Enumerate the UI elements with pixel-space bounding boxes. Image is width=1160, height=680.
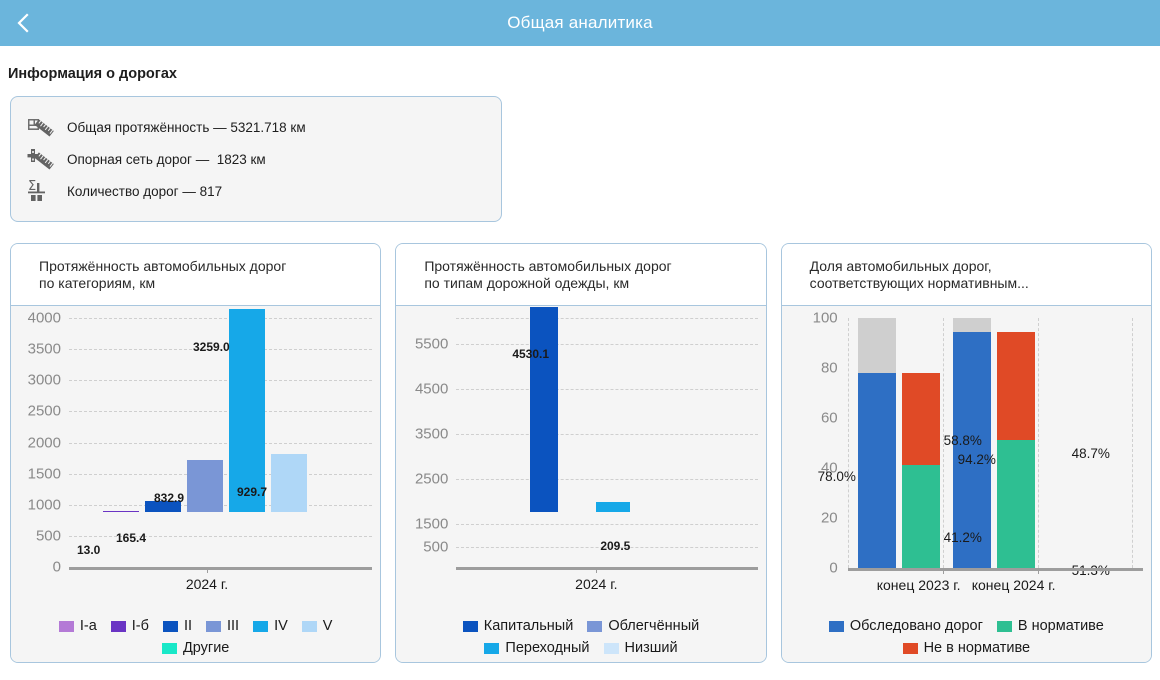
chart-card-road-length-by-pavement: Протяжённость автомобильных дорог по тип… xyxy=(395,243,766,663)
legend-item-kapitalnyy[interactable]: Капитальный xyxy=(463,618,574,634)
charts-row: Протяжённость автомобильных дорог по кат… xyxy=(10,243,1152,663)
legend-item-ii[interactable]: II xyxy=(163,618,192,634)
info-text-road-count: Количество дорог — 817 xyxy=(67,184,222,199)
bar-label-iv: 3259.0 xyxy=(193,340,230,354)
legend-swatch-kapitalnyy xyxy=(463,621,478,632)
chart3-legend: Обследовано дорог В нормативе Не в норма… xyxy=(782,618,1151,656)
bar-iv[interactable] xyxy=(229,309,265,512)
chart-card-normative-share: Доля автомобильных дорог, соответствующи… xyxy=(781,243,1152,663)
legend-item-v[interactable]: V xyxy=(302,618,333,634)
info-row-total-length: Общая протяжённость — 5321.718 км xyxy=(25,111,485,143)
chart3-plot: 100 80 60 40 20 0 xyxy=(782,306,1151,662)
chart1-plot: 4000 3500 3000 2500 2000 1500 1000 500 0 xyxy=(11,306,380,662)
chart-plot-area[interactable]: 5500 4500 3500 2500 1500 500 4530.1 209.… xyxy=(396,306,765,662)
legend-label-i-b: I-б xyxy=(132,618,149,634)
chevron-left-icon xyxy=(16,12,30,34)
legend-swatch-oblegchennyy xyxy=(587,621,602,632)
legend-swatch-i-a xyxy=(59,621,74,632)
y-tick: 4000 xyxy=(11,310,61,327)
legend-swatch-iv xyxy=(253,621,268,632)
x-tick-label-2024: 2024 г. xyxy=(546,576,646,592)
legend-row-2: Не в нормативе xyxy=(788,640,1145,656)
legend-label-ii: II xyxy=(184,618,192,634)
legend-label-iv: IV xyxy=(274,618,288,634)
bar-label-2023-not-normative: 58.8% xyxy=(944,433,982,448)
legend-row-2: Переходный Низший xyxy=(402,640,759,656)
y-tick: 5500 xyxy=(396,336,448,353)
y-tick: 2500 xyxy=(11,403,61,420)
y-tick: 1500 xyxy=(11,466,61,483)
legend-label-normative: В нормативе xyxy=(1018,618,1104,634)
bar-label-kapitalnyy: 4530.1 xyxy=(512,347,549,361)
legend-item-oblegchennyy[interactable]: Облегчённый xyxy=(587,618,699,634)
legend-item-normative[interactable]: В нормативе xyxy=(997,618,1104,634)
chart-title: Протяжённость автомобильных дорог по кат… xyxy=(39,258,366,292)
x-axis-line xyxy=(69,567,372,570)
y-tick: 1500 xyxy=(396,516,448,533)
bar-2023-surveyed[interactable] xyxy=(858,373,896,568)
info-row-road-count: Σ Количество дорог — 817 xyxy=(25,175,485,207)
chart2-legend: Капитальный Облегчённый Переходный xyxy=(396,618,765,656)
legend-label-oblegchennyy: Облегчённый xyxy=(608,618,699,634)
y-tick: 3000 xyxy=(11,372,61,389)
legend-label-v: V xyxy=(323,618,333,634)
sigma-roads-icon: Σ xyxy=(25,178,55,204)
bar-kapitalnyy[interactable] xyxy=(530,307,558,512)
page-title: Общая аналитика xyxy=(0,13,1160,33)
legend-label-drugie: Другие xyxy=(183,640,229,656)
chart-plot-area[interactable]: 100 80 60 40 20 0 xyxy=(782,306,1151,662)
legend-row-1: I-a I-б II III xyxy=(17,618,374,634)
y-tick: 2500 xyxy=(396,471,448,488)
legend-swatch-surveyed xyxy=(829,621,844,632)
y-tick: 3500 xyxy=(11,341,61,358)
info-text-total-length: Общая протяжённость — 5321.718 км xyxy=(67,120,306,135)
bar-iii[interactable] xyxy=(187,460,223,512)
x-tick-label-2024: 2024 г. xyxy=(157,576,257,592)
chart-header: Доля автомобильных дорог, соответствующи… xyxy=(782,244,1151,306)
legend-item-perehodnyy[interactable]: Переходный xyxy=(484,640,589,656)
legend-item-nizshiy[interactable]: Низший xyxy=(604,640,678,656)
bar-label-v: 929.7 xyxy=(237,485,267,499)
chart2-plot: 5500 4500 3500 2500 1500 500 4530.1 209.… xyxy=(396,306,765,662)
bar-label-2024-not-normative: 48.7% xyxy=(1072,446,1110,461)
y-tick: 500 xyxy=(11,528,61,545)
x-tick-mark xyxy=(207,567,208,573)
legend-item-iv[interactable]: IV xyxy=(253,618,288,634)
bar-label-drugie: 13.0 xyxy=(77,543,100,557)
bar-drugie[interactable] xyxy=(103,511,139,512)
bar-label-2023-normative: 41.2% xyxy=(944,530,982,545)
bars-container xyxy=(69,318,372,662)
y-tick: 1000 xyxy=(11,497,61,514)
legend-swatch-normative xyxy=(997,621,1012,632)
bar-v[interactable] xyxy=(271,454,307,512)
app-header: Общая аналитика xyxy=(0,0,1160,46)
chart-plot-area[interactable]: 4000 3500 3000 2500 2000 1500 1000 500 0 xyxy=(11,306,380,662)
legend-row-1: Капитальный Облегчённый xyxy=(402,618,759,634)
legend-swatch-i-b xyxy=(111,621,126,632)
info-row-core-network: Опорная сеть дорог — 1823 км xyxy=(25,143,485,175)
chart1-legend: I-a I-б II III xyxy=(11,618,380,656)
x-axis-line xyxy=(456,567,757,570)
legend-swatch-drugie xyxy=(162,643,177,654)
y-tick: 0 xyxy=(11,559,61,576)
chart-header: Протяжённость автомобильных дорог по тип… xyxy=(396,244,765,306)
legend-swatch-v xyxy=(302,621,317,632)
legend-item-i-a[interactable]: I-a xyxy=(59,618,97,634)
bar-label-2023-surveyed-total: 94.2% xyxy=(958,452,996,467)
legend-swatch-iii xyxy=(206,621,221,632)
chart-title: Доля автомобильных дорог, соответствующи… xyxy=(810,258,1137,292)
bar-2023-normative[interactable] xyxy=(902,465,940,568)
x-tick-label-2024: конец 2024 г. xyxy=(944,577,1084,593)
legend-swatch-perehodnyy xyxy=(484,643,499,654)
x-axis-line xyxy=(848,568,1143,571)
chart-card-road-length-by-category: Протяжённость автомобильных дорог по кат… xyxy=(10,243,381,663)
x-tick-mark xyxy=(596,567,597,573)
legend-item-iii[interactable]: III xyxy=(206,618,239,634)
legend-item-i-b[interactable]: I-б xyxy=(111,618,149,634)
x-tick-mark xyxy=(943,568,944,574)
legend-item-drugie[interactable]: Другие xyxy=(162,640,229,656)
bar-label-iii: 832.9 xyxy=(154,491,184,505)
back-button[interactable] xyxy=(0,0,46,46)
y-tick: 2000 xyxy=(11,435,61,452)
road-ruler-icon xyxy=(25,114,55,140)
y-tick: 3500 xyxy=(396,426,448,443)
legend-label-surveyed: Обследовано дорог xyxy=(850,618,983,634)
legend-label-not-normative: Не в нормативе xyxy=(924,640,1031,656)
legend-label-i-a: I-a xyxy=(80,618,97,634)
x-tick-mark xyxy=(1038,568,1039,574)
bar-label-2023-surveyed: 78.0% xyxy=(818,469,856,484)
legend-swatch-not-normative xyxy=(903,643,918,654)
bars-container xyxy=(456,318,757,662)
legend-row-1: Обследовано дорог В нормативе xyxy=(788,618,1145,634)
legend-label-iii: III xyxy=(227,618,239,634)
legend-row-2: Другие xyxy=(17,640,374,656)
bar-2024-normative[interactable] xyxy=(997,440,1035,568)
legend-label-kapitalnyy: Капитальный xyxy=(484,618,574,634)
section-heading: Информация о дорогах xyxy=(8,66,1160,82)
y-tick: 4500 xyxy=(396,381,448,398)
y-tick: 500 xyxy=(396,539,448,556)
legend-item-surveyed[interactable]: Обследовано дорог xyxy=(829,618,983,634)
legend-label-perehodnyy: Переходный xyxy=(505,640,589,656)
bar-perehodnyy[interactable] xyxy=(596,502,630,512)
legend-item-not-normative[interactable]: Не в нормативе xyxy=(903,640,1031,656)
bar-label-ii: 165.4 xyxy=(116,531,146,545)
legend-label-nizshiy: Низший xyxy=(625,640,678,656)
legend-swatch-ii xyxy=(163,621,178,632)
legend-swatch-nizshiy xyxy=(604,643,619,654)
chart-header: Протяжённость автомобильных дорог по кат… xyxy=(11,244,380,306)
info-text-core-network: Опорная сеть дорог — 1823 км xyxy=(67,152,266,167)
chart-title: Протяжённость автомобильных дорог по тип… xyxy=(424,258,751,292)
road-info-panel: Общая протяжённость — 5321.718 км xyxy=(10,96,502,222)
road-network-ruler-icon xyxy=(25,146,55,172)
bar-label-perehodnyy: 209.5 xyxy=(600,539,630,553)
